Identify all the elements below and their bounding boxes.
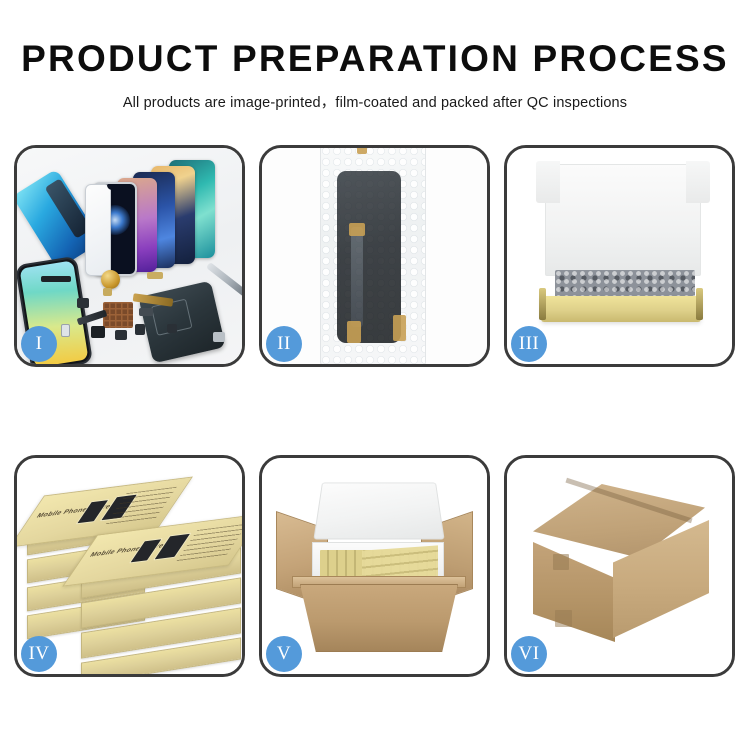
carton-left-face: [533, 542, 615, 642]
gold-coil-component: [101, 270, 120, 289]
header: PRODUCT PREPARATION PROCESS All products…: [0, 40, 750, 112]
small-part: [115, 330, 127, 340]
page-title: PRODUCT PREPARATION PROCESS: [0, 40, 750, 77]
bubble-wrap-bag: [320, 148, 426, 364]
small-part: [135, 324, 145, 335]
small-part: [147, 272, 163, 279]
page-subtitle: All products are image-printed，film-coat…: [0, 91, 750, 112]
small-part: [213, 332, 225, 342]
tape-piece: [349, 223, 365, 236]
step-badge-5: V: [266, 636, 302, 672]
box-spec-lines: [175, 524, 242, 564]
process-step-3[interactable]: III: [504, 145, 735, 367]
tape-piece: [347, 321, 361, 343]
small-part: [103, 288, 112, 296]
phone-fan-group: [85, 156, 242, 276]
process-steps-grid: I II: [14, 145, 736, 677]
process-step-5[interactable]: V: [259, 455, 490, 677]
small-part: [167, 324, 177, 333]
process-step-4[interactable]: Mobile Phone Spare Parts Mobile Phone Sp…: [14, 455, 245, 677]
process-step-2[interactable]: II: [259, 145, 490, 367]
step-badge-3: III: [511, 326, 547, 362]
chip-array-component: [103, 302, 133, 328]
tape-piece: [357, 148, 367, 154]
tape-piece: [393, 315, 406, 341]
process-step-6[interactable]: VI: [504, 455, 735, 677]
product-preparation-infographic: PRODUCT PREPARATION PROCESS All products…: [0, 0, 750, 750]
small-part: [91, 326, 105, 338]
step-badge-4: IV: [21, 636, 57, 672]
box-stack: Mobile Phone Spare Parts Mobile Phone Sp…: [25, 472, 241, 668]
small-part: [77, 298, 89, 308]
kraft-box-tray: [541, 296, 701, 322]
tempered-glass-panel: [85, 184, 111, 276]
small-part: [139, 308, 153, 316]
carton-tape-mark: [555, 610, 572, 627]
speaker-bar-component: [41, 276, 71, 282]
foam-cooler-lid: [313, 483, 444, 540]
step-badge-2: II: [266, 326, 302, 362]
foam-padding-insert: [555, 270, 695, 298]
small-part: [61, 324, 70, 337]
box-lid-white: [545, 164, 701, 276]
process-step-1[interactable]: I: [14, 145, 245, 367]
wrapped-screen-part: [337, 171, 401, 343]
shipping-carton-body: [300, 584, 458, 652]
step-badge-1: I: [21, 326, 57, 362]
carton-tape-mark: [553, 554, 569, 570]
step-badge-6: VI: [511, 636, 547, 672]
